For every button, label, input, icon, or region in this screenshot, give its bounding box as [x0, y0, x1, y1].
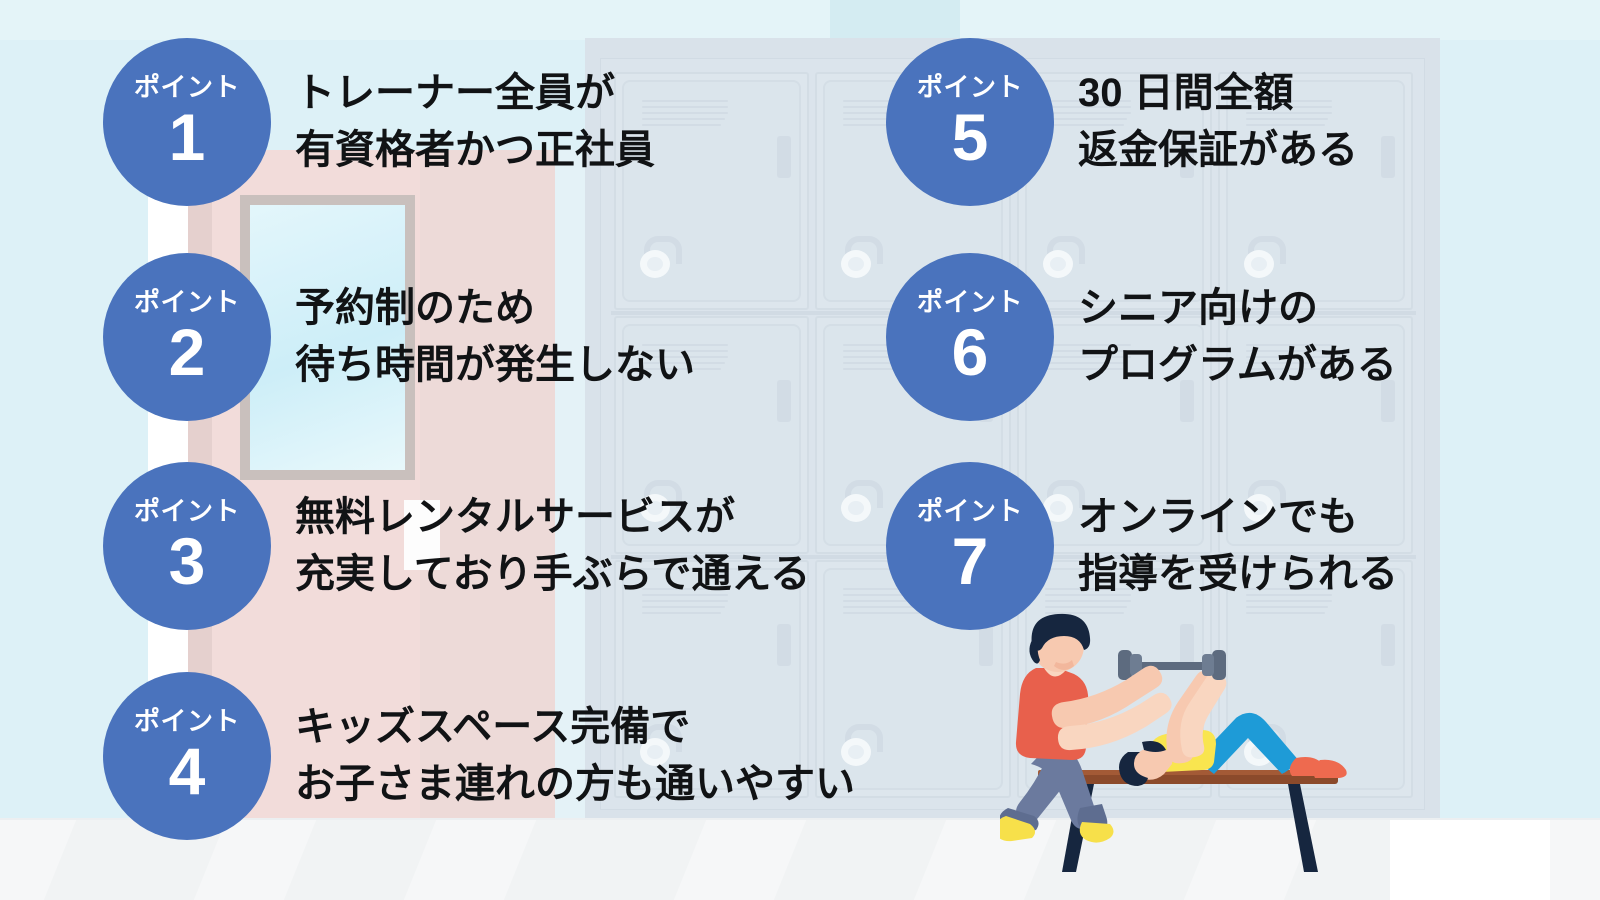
point-badge-3[interactable]: ポイント 3: [103, 462, 271, 630]
point-text-line1: シニア向けの: [1078, 286, 1318, 330]
point-badge-1[interactable]: ポイント 1: [103, 38, 271, 206]
point-text-5: 30 日間全額 返金保証がある: [1078, 65, 1358, 179]
badge-number: 4: [169, 738, 206, 804]
point-text-line1: 30 日間全額: [1078, 71, 1294, 115]
badge-number: 2: [169, 319, 206, 385]
point-text-line1: キッズスペース完備で: [295, 705, 690, 749]
point-text-line2: 待ち時間が発生しない: [295, 337, 695, 394]
point-badge-4[interactable]: ポイント 4: [103, 672, 271, 840]
point-text-6: シニア向けの プログラムがある: [1078, 280, 1397, 394]
badge-number: 5: [952, 104, 989, 170]
badge-number: 6: [952, 319, 989, 385]
point-row-4[interactable]: ポイント 4 キッズスペース完備で お子さま連れの方も通いやすい: [103, 672, 855, 840]
trainer-and-client-illustration: [1000, 610, 1400, 890]
point-text-line1: トレーナー全員が: [295, 71, 615, 115]
badge-label: ポイント: [917, 498, 1023, 524]
point-text-line2: お子さま連れの方も通いやすい: [295, 756, 855, 813]
point-row-5[interactable]: ポイント 5 30 日間全額 返金保証がある: [886, 38, 1358, 206]
point-text-3: 無料レンタルサービスが 充実しており手ぶらで通える: [295, 489, 810, 603]
point-text-1: トレーナー全員が 有資格者かつ正社員: [295, 65, 655, 179]
floor-light-patch: [1390, 820, 1550, 900]
locker-latch: [777, 380, 791, 422]
infographic-canvas: ポイント 1 トレーナー全員が 有資格者かつ正社員 ポイント 2 予約制のため …: [0, 0, 1600, 900]
padlock-icon: [839, 480, 883, 522]
badge-label: ポイント: [134, 74, 240, 100]
point-row-6[interactable]: ポイント 6 シニア向けの プログラムがある: [886, 253, 1397, 421]
point-text-line1: オンラインでも: [1078, 495, 1358, 539]
point-row-1[interactable]: ポイント 1 トレーナー全員が 有資格者かつ正社員: [103, 38, 655, 206]
point-row-7[interactable]: ポイント 7 オンラインでも 指導を受けられる: [886, 462, 1398, 630]
point-text-7: オンラインでも 指導を受けられる: [1078, 489, 1398, 603]
badge-label: ポイント: [917, 74, 1023, 100]
point-row-3[interactable]: ポイント 3 無料レンタルサービスが 充実しており手ぶらで通える: [103, 462, 810, 630]
badge-number: 7: [952, 528, 989, 594]
point-row-2[interactable]: ポイント 2 予約制のため 待ち時間が発生しない: [103, 253, 695, 421]
point-badge-7[interactable]: ポイント 7: [886, 462, 1054, 630]
point-text-line2: プログラムがある: [1078, 337, 1397, 394]
point-badge-6[interactable]: ポイント 6: [886, 253, 1054, 421]
badge-label: ポイント: [134, 289, 240, 315]
point-badge-5[interactable]: ポイント 5: [886, 38, 1054, 206]
point-text-line2: 充実しており手ぶらで通える: [295, 546, 810, 603]
wall-top-highlight: [0, 0, 1600, 40]
badge-label: ポイント: [917, 289, 1023, 315]
point-text-line1: 予約制のため: [295, 286, 535, 330]
locker-latch: [1381, 136, 1395, 178]
point-text-line2: 返金保証がある: [1078, 122, 1358, 179]
point-text-line2: 指導を受けられる: [1078, 546, 1398, 603]
point-text-line2: 有資格者かつ正社員: [295, 122, 655, 179]
badge-label: ポイント: [134, 498, 240, 524]
point-text-4: キッズスペース完備で お子さま連れの方も通いやすい: [295, 699, 855, 813]
badge-number: 3: [169, 528, 206, 594]
padlock-icon: [839, 236, 883, 278]
badge-number: 1: [169, 104, 206, 170]
locker-latch: [979, 624, 993, 666]
point-text-line1: 無料レンタルサービスが: [295, 495, 735, 539]
locker-latch: [777, 136, 791, 178]
badge-label: ポイント: [134, 708, 240, 734]
locker-latch: [777, 624, 791, 666]
point-badge-2[interactable]: ポイント 2: [103, 253, 271, 421]
point-text-2: 予約制のため 待ち時間が発生しない: [295, 280, 695, 394]
